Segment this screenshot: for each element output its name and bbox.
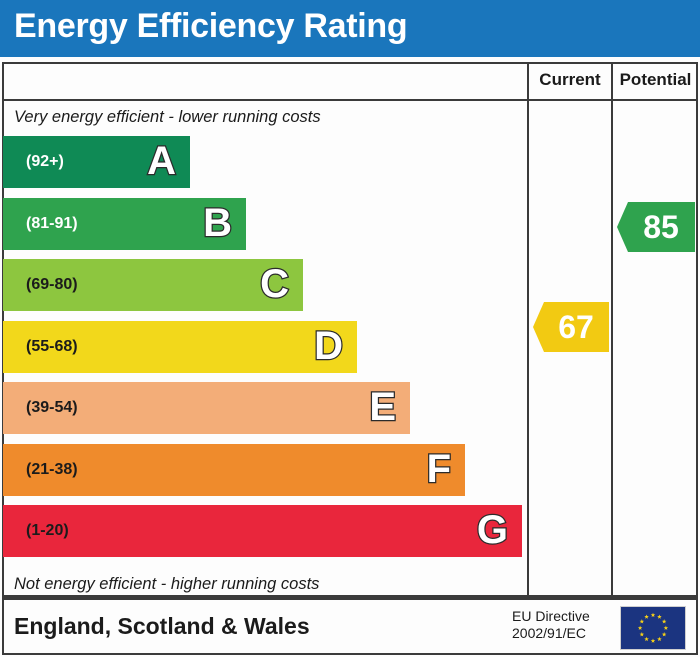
header-row-divider — [2, 99, 698, 101]
band-b: (81-91)B — [3, 198, 246, 250]
band-letter-b: B — [203, 203, 232, 243]
potential-rating-badge: 85 — [617, 202, 695, 252]
current-rating-value: 67 — [548, 311, 594, 343]
eu-directive-line2: 2002/91/EC — [512, 625, 612, 642]
title-bar: Energy Efficiency Rating — [0, 0, 700, 57]
column-header-potential: Potential — [613, 70, 698, 90]
current-rating-badge: 67 — [533, 302, 609, 352]
band-letter-c: C — [260, 264, 289, 304]
energy-efficiency-rating-chart: Energy Efficiency Rating Current Potenti… — [0, 0, 700, 657]
band-letter-f: F — [427, 449, 451, 489]
band-a: (92+)A — [3, 136, 190, 188]
caption-bottom: Not energy efficient - higher running co… — [14, 575, 319, 594]
caption-top: Very energy efficient - lower running co… — [14, 108, 321, 127]
potential-column-divider — [611, 62, 613, 597]
band-range-b: (81-91) — [26, 215, 78, 233]
band-e: (39-54)E — [3, 382, 410, 434]
eu-flag-icon — [620, 606, 686, 650]
band-range-a: (92+) — [26, 153, 64, 171]
band-g: (1-20)G — [3, 505, 522, 557]
band-d: (55-68)D — [3, 321, 357, 373]
band-range-e: (39-54) — [26, 399, 78, 417]
footer-region-label: England, Scotland & Wales — [14, 613, 310, 640]
eu-directive-line1: EU Directive — [512, 608, 612, 625]
band-f: (21-38)F — [3, 444, 465, 496]
band-range-d: (55-68) — [26, 338, 78, 356]
band-letter-a: A — [147, 141, 176, 181]
band-range-f: (21-38) — [26, 461, 78, 479]
band-range-c: (69-80) — [26, 276, 78, 294]
band-letter-g: G — [477, 510, 508, 550]
potential-rating-value: 85 — [633, 211, 679, 243]
band-letter-d: D — [314, 326, 343, 366]
column-header-current: Current — [529, 70, 611, 90]
page-title: Energy Efficiency Rating — [14, 7, 407, 46]
current-column-divider — [527, 62, 529, 597]
footer-divider — [2, 597, 698, 600]
band-range-g: (1-20) — [26, 522, 69, 540]
eu-directive-label: EU Directive 2002/91/EC — [512, 608, 612, 642]
band-c: (69-80)C — [3, 259, 303, 311]
band-letter-e: E — [369, 387, 396, 427]
rating-bands: (92+)A(81-91)B(69-80)C(55-68)D(39-54)E(2… — [3, 136, 527, 566]
